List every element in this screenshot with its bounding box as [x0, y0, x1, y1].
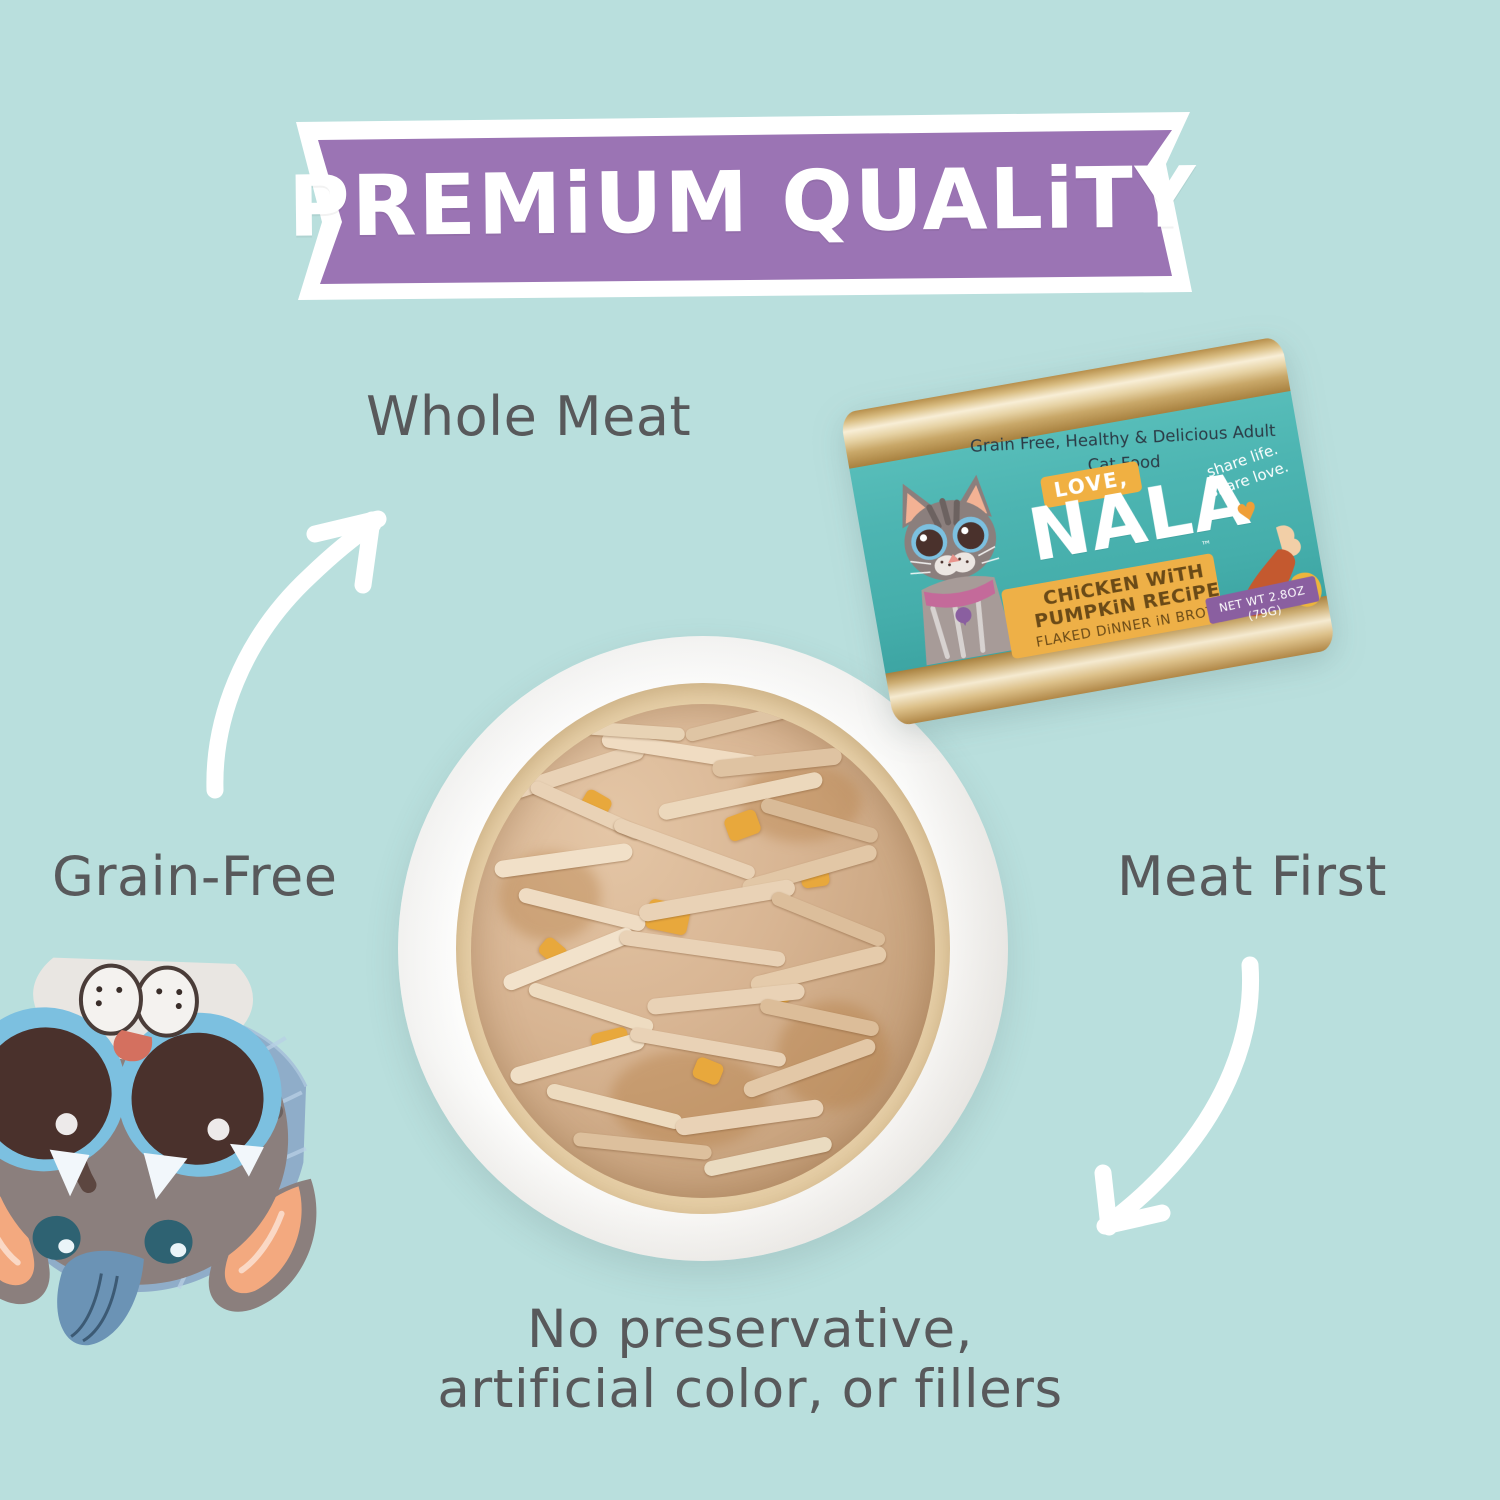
- cat-food-can: Grain Free, Healthy & Delicious Adult Ca…: [827, 320, 1352, 756]
- heart-icon: ♥: [1235, 502, 1259, 525]
- arrow-down-left-icon: [1045, 895, 1325, 1240]
- feature-label-grain-free: Grain-Free: [52, 845, 337, 908]
- bowl-interior-broth: [456, 683, 950, 1214]
- nala-cat-mascot-icon: [0, 953, 340, 1388]
- can-trademark-symbol: ™: [1200, 538, 1213, 553]
- shredded-chicken-mound: [471, 704, 935, 1198]
- can-body: Grain Free, Healthy & Delicious Adult Ca…: [840, 336, 1336, 727]
- banner-title: PREMiUM QUALiTY: [277, 91, 1209, 313]
- feature-label-whole-meat: Whole Meat: [366, 385, 691, 448]
- promo-graphic: PREMiUM QUALiTY Whole Meat Grain-Free Me…: [0, 0, 1500, 1500]
- premium-quality-banner: PREMiUM QUALiTY: [278, 96, 1208, 308]
- arrow-up-right-icon: [175, 490, 415, 800]
